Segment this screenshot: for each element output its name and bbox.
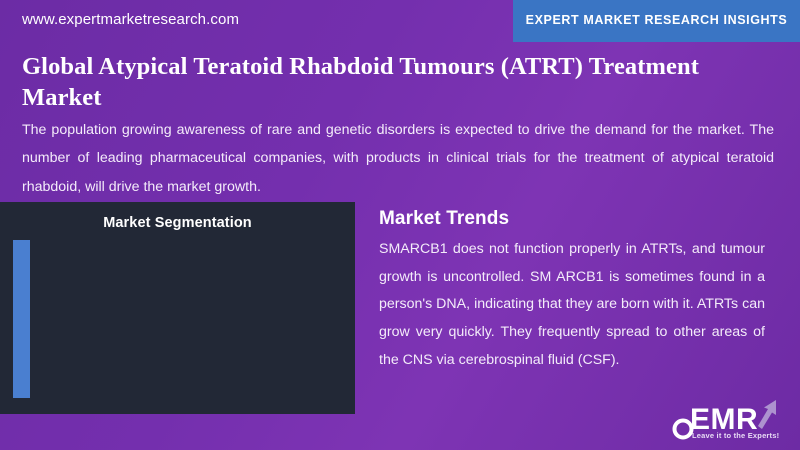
site-url-label: www.expertmarketresearch.com (22, 11, 239, 28)
market-trends-heading: Market Trends (379, 208, 509, 230)
market-segmentation-panel: Market Segmentation by Treatment Method … (0, 202, 355, 414)
emr-logo-ring (675, 421, 692, 438)
emr-logo-tagline: Leave it to the Experts! (692, 431, 779, 440)
page-title: Global Atypical Teratoid Rhabdoid Tumour… (22, 51, 722, 114)
insights-band: EXPERT MARKET RESEARCH INSIGHTS (513, 0, 800, 42)
growth-arrow-icon (758, 400, 776, 429)
infographic-canvas: www.expertmarketresearch.com EXPERT MARK… (0, 0, 800, 450)
intro-paragraph: The population growing awareness of rare… (22, 116, 774, 201)
market-trends-paragraph: SMARCB1 does not function properly in AT… (379, 236, 765, 374)
emr-logo: EMR Leave it to the Experts! (672, 392, 792, 444)
segmentation-rows: by Treatment Method by Route of Drug Adm… (0, 202, 355, 414)
emr-logo-graphic: EMR Leave it to the Experts! (672, 392, 792, 444)
insights-band-label: EXPERT MARKET RESEARCH INSIGHTS (513, 13, 800, 27)
top-bar: www.expertmarketresearch.com EXPERT MARK… (0, 0, 800, 42)
